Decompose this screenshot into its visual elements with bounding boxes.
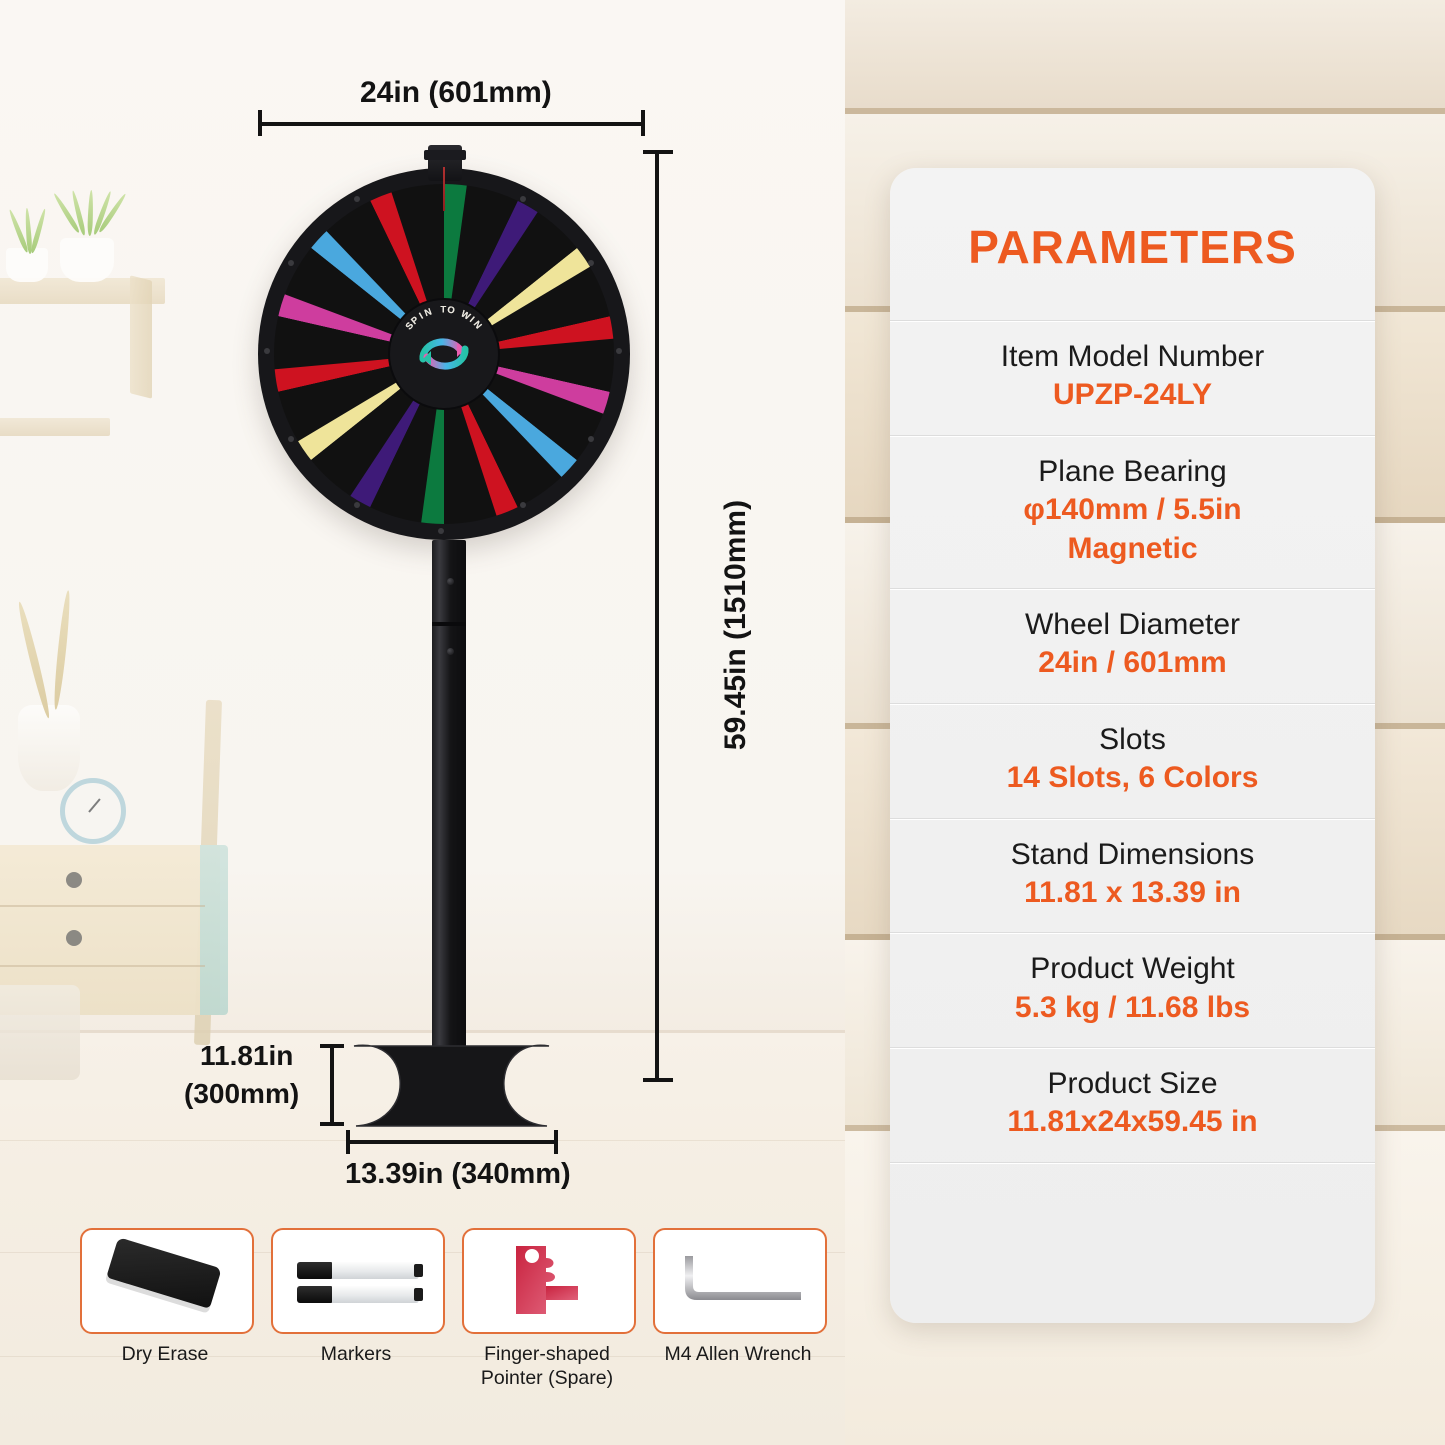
prize-wheel[interactable]: SPIN TO WIN SPIN TO WIN — [258, 168, 630, 540]
accessories-row: Dry Erase Markers — [80, 1228, 840, 1413]
plant-pot — [6, 248, 48, 282]
parameter-row: Product Weight 5.3 kg / 11.68 lbs — [890, 932, 1375, 1047]
rim-screw — [520, 196, 526, 202]
parameter-key: Item Model Number — [900, 338, 1365, 376]
parameter-row: Wheel Diameter 24in / 601mm — [890, 588, 1375, 703]
accessory-image-box — [271, 1228, 445, 1334]
dimension-height-line — [655, 152, 659, 1082]
pole-joint — [432, 622, 466, 626]
accessory-label: M4 Allen Wrench — [653, 1343, 823, 1367]
accessory-allen-wrench[interactable]: M4 Allen Wrench — [653, 1228, 823, 1367]
rim-screw — [288, 436, 294, 442]
parameters-panel: PARAMETERS Item Model Number UPZP-24LY P… — [890, 168, 1375, 1323]
nightstand-drawer-line — [0, 965, 205, 967]
accessory-finger-pointer[interactable]: Finger-shaped Pointer (Spare) — [462, 1228, 632, 1391]
dimension-base-depth-line — [330, 1046, 334, 1126]
parameter-value: 11.81 x 13.39 in — [900, 874, 1365, 912]
dimension-base-width-label: 13.39in (340mm) — [345, 1158, 571, 1191]
accessory-dry-erase[interactable]: Dry Erase — [80, 1228, 250, 1367]
parameter-key: Wheel Diameter — [900, 606, 1365, 644]
pole-adjust-screw — [447, 578, 454, 585]
plant-pot — [60, 238, 114, 282]
accessory-label-sub: Pointer (Spare) — [481, 1367, 613, 1389]
pampas-grass — [52, 590, 72, 710]
parameter-value: 5.3 kg / 11.68 lbs — [900, 989, 1365, 1027]
dimension-base-depth-label-2: (300mm) — [184, 1078, 299, 1110]
parameter-key: Slots — [900, 721, 1365, 759]
parameter-value: φ140mm / 5.5in — [900, 491, 1365, 529]
accessory-label-main: Finger-shaped — [484, 1343, 610, 1365]
accessory-image-box — [80, 1228, 254, 1334]
parameter-key: Product Size — [900, 1065, 1365, 1103]
parameters-title: PARAMETERS — [890, 168, 1375, 320]
rim-screw — [616, 348, 622, 354]
markers-icon — [297, 1262, 419, 1279]
nightstand-side — [200, 845, 228, 1015]
eraser-icon — [106, 1237, 222, 1309]
parameter-value: 11.81x24x59.45 in — [900, 1103, 1365, 1141]
wall-shelf-lower — [0, 418, 110, 436]
finger-pointer-icon — [512, 1242, 594, 1327]
drawer-knob — [66, 872, 82, 888]
wheel-hub: SPIN TO WIN SPIN TO WIN — [390, 300, 498, 408]
accessory-markers[interactable]: Markers — [271, 1228, 441, 1367]
dimension-base-depth-label-1: 11.81in — [200, 1040, 293, 1072]
dimension-tick — [643, 150, 673, 154]
rim-screw — [438, 528, 444, 534]
rim-screw — [354, 502, 360, 508]
accessory-image-box — [462, 1228, 636, 1334]
nightstand-drawer-line — [0, 905, 205, 907]
allen-wrench-icon — [679, 1252, 805, 1317]
dimension-tick — [643, 1078, 673, 1082]
wheel-clicker-top — [424, 150, 466, 160]
dimension-tick — [554, 1130, 558, 1154]
dimension-base-width-line — [348, 1140, 558, 1144]
alarm-clock — [60, 778, 126, 844]
parameter-row: Slots 14 Slots, 6 Colors — [890, 703, 1375, 818]
wood-plank — [845, 0, 1445, 108]
accessory-label: Finger-shaped Pointer (Spare) — [462, 1343, 632, 1391]
parameter-row: Item Model Number UPZP-24LY — [890, 320, 1375, 435]
parameter-value-extra: Magnetic — [900, 530, 1365, 568]
panel-footer-divider — [890, 1162, 1375, 1209]
rim-screw — [264, 348, 270, 354]
accessory-image-box — [653, 1228, 827, 1334]
spin-arrows-icon — [413, 329, 475, 379]
rim-screw — [354, 196, 360, 202]
infographic-stage: SPIN TO WIN SPIN TO WIN — [0, 0, 1445, 1445]
parameter-value: 24in / 601mm — [900, 644, 1365, 682]
parameter-value: UPZP-24LY — [900, 376, 1365, 414]
parameter-row: Product Size 11.81x24x59.45 in — [890, 1047, 1375, 1162]
parameter-key: Plane Bearing — [900, 453, 1365, 491]
markers-icon — [297, 1286, 419, 1303]
stand-pole — [432, 540, 466, 1070]
rim-screw — [588, 260, 594, 266]
parameter-key: Stand Dimensions — [900, 836, 1365, 874]
dimension-width-line — [260, 122, 645, 126]
stand-base — [340, 1040, 563, 1132]
dimension-tick — [258, 110, 262, 136]
dimension-width-label: 24in (601mm) — [360, 76, 552, 110]
wall-shelf-bracket — [130, 275, 152, 398]
wheel-face: SPIN TO WIN SPIN TO WIN — [274, 184, 614, 524]
rim-screw — [520, 502, 526, 508]
parameter-row: Stand Dimensions 11.81 x 13.39 in — [890, 818, 1375, 933]
dimension-tick — [346, 1130, 350, 1154]
pole-adjust-screw — [447, 648, 454, 655]
accessory-label: Markers — [271, 1343, 441, 1367]
parameter-row: Plane Bearing φ140mm / 5.5in Magnetic — [890, 435, 1375, 588]
pampas-grass — [16, 601, 53, 719]
parameter-value: 14 Slots, 6 Colors — [900, 759, 1365, 797]
rim-screw — [588, 436, 594, 442]
dimension-tick — [641, 110, 645, 136]
parameter-key: Product Weight — [900, 950, 1365, 988]
woven-basket — [0, 985, 80, 1080]
drawer-knob — [66, 930, 82, 946]
rim-screw — [288, 260, 294, 266]
dimension-height-label: 59.45in (1510mm) — [719, 500, 753, 750]
accessory-label: Dry Erase — [80, 1343, 250, 1367]
